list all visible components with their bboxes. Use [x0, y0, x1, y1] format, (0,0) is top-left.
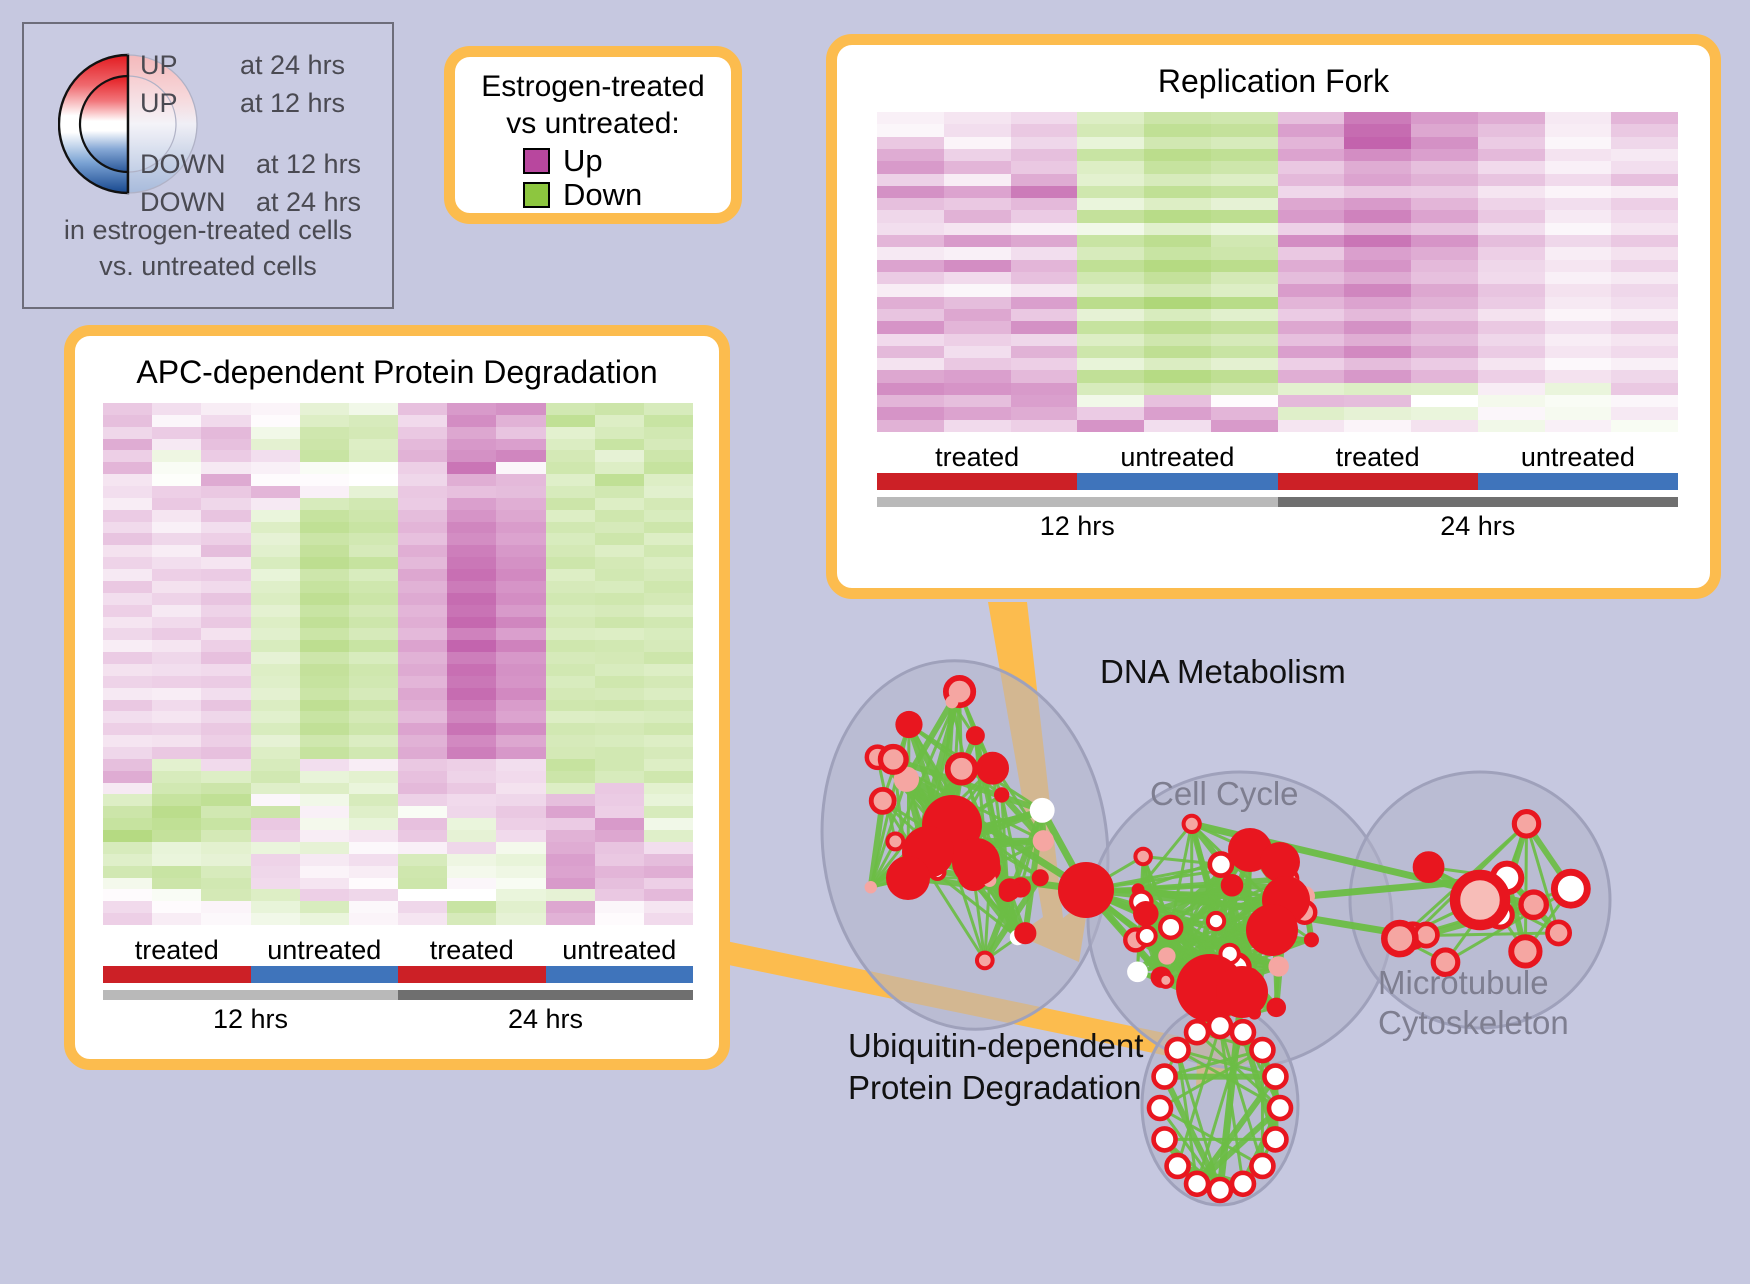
heatmap-cell: [644, 700, 693, 712]
heatmap-cell: [1011, 174, 1078, 186]
heatmap-cell: [644, 498, 693, 510]
heatmap-cell: [496, 415, 545, 427]
heatmap-cell: [1278, 297, 1345, 309]
heatmap-cell: [644, 617, 693, 629]
heatmap-cell: [595, 913, 644, 925]
heatmap-cell: [152, 700, 201, 712]
heatmap-cell: [546, 676, 595, 688]
network-node: [1149, 1097, 1171, 1119]
heatmap-cell: [877, 260, 944, 272]
heatmap-cell: [1278, 395, 1345, 407]
heatmap-cell: [546, 628, 595, 640]
heatmap-cell: [644, 711, 693, 723]
heatmap-cell: [103, 830, 152, 842]
heatmap-cell: [1545, 370, 1612, 382]
wheel-label-down-12: DOWN: [140, 149, 225, 180]
time-label: 24 hrs: [398, 1004, 693, 1035]
heatmap-cell: [944, 235, 1011, 247]
heatmap-cell: [201, 866, 250, 878]
heatmap-cell: [1545, 260, 1612, 272]
heatmap-cell: [496, 510, 545, 522]
heatmap-cell: [496, 866, 545, 878]
heatmap-cell: [1344, 174, 1411, 186]
heatmap-cell: [447, 545, 496, 557]
network-node: [1232, 1021, 1254, 1043]
heatmap-cell: [152, 474, 201, 486]
heatmap-cell: [877, 383, 944, 395]
heatmap-cell: [201, 569, 250, 581]
heatmap-cell: [1278, 174, 1345, 186]
heatmap-cell: [300, 711, 349, 723]
heatmap-cell: [546, 510, 595, 522]
heatmap-cell: [546, 794, 595, 806]
heatmap-cell: [300, 605, 349, 617]
heatmap-cell: [300, 462, 349, 474]
heatmap-cell: [398, 842, 447, 854]
heatmap-cell: [546, 450, 595, 462]
heatmap-cell: [644, 866, 693, 878]
heatmap-cell: [877, 137, 944, 149]
heatmap-cell: [152, 498, 201, 510]
heatmap-cell: [447, 794, 496, 806]
heatmap-cell: [447, 522, 496, 534]
heatmap-cell: [644, 652, 693, 664]
heatmap-cell: [300, 474, 349, 486]
heatmap-cell: [1077, 198, 1144, 210]
heatmap-cell: [1611, 309, 1678, 321]
heatmap-cell: [1278, 358, 1345, 370]
heatmap-cell: [496, 771, 545, 783]
heatmap-cell: [1411, 272, 1478, 284]
heatmap-cell: [1545, 321, 1612, 333]
heatmap-cell: [1211, 334, 1278, 346]
heatmap-cell: [1478, 112, 1545, 124]
heatmap-cell: [398, 771, 447, 783]
heatmap-cell: [300, 842, 349, 854]
heatmap-cell: [1478, 149, 1545, 161]
heatmap-cell: [877, 284, 944, 296]
heatmap-cell: [644, 593, 693, 605]
network-node: [1159, 974, 1172, 987]
heatmap-cell: [349, 723, 398, 735]
heatmap-cell: [300, 759, 349, 771]
heatmap-cell: [251, 806, 300, 818]
heatmap-cell: [251, 735, 300, 747]
heatmap-cell: [447, 676, 496, 688]
heatmap-cell: [349, 664, 398, 676]
heatmap-cell: [1344, 124, 1411, 136]
heatmap-cell: [201, 652, 250, 664]
heatmap-cell: [398, 628, 447, 640]
heatmap-cell: [103, 783, 152, 795]
heatmap-cell: [1211, 309, 1278, 321]
replication-fork-condition-labels: treateduntreatedtreateduntreated: [877, 442, 1678, 473]
heatmap-cell: [644, 842, 693, 854]
heatmap-cell: [1011, 223, 1078, 235]
heatmap-cell: [1011, 112, 1078, 124]
heatmap-cell: [1011, 284, 1078, 296]
heatmap-cell: [152, 403, 201, 415]
heatmap-cell: [595, 889, 644, 901]
heatmap-cell: [300, 545, 349, 557]
heatmap-cell: [201, 545, 250, 557]
heatmap-cell: [644, 403, 693, 415]
heatmap-cell: [595, 522, 644, 534]
heatmap-cell: [1211, 383, 1278, 395]
heatmap-cell: [349, 866, 398, 878]
heatmap-cell: [1278, 272, 1345, 284]
heatmap-cell: [152, 569, 201, 581]
heatmap-cell: [1545, 247, 1612, 259]
network-node: [1208, 913, 1224, 929]
heatmap-cell: [251, 439, 300, 451]
heatmap-cell: [1077, 420, 1144, 432]
heatmap-cell: [546, 617, 595, 629]
heatmap-cell: [1545, 407, 1612, 419]
down-label: Down: [563, 179, 642, 210]
network-node: [1209, 1015, 1231, 1037]
heatmap-cell: [1545, 297, 1612, 309]
heatmap-cell: [644, 854, 693, 866]
heatmap-cell: [349, 735, 398, 747]
heatmap-cell: [152, 723, 201, 735]
heatmap-cell: [300, 403, 349, 415]
heatmap-cell: [300, 652, 349, 664]
heatmap-cell: [201, 759, 250, 771]
heatmap-cell: [251, 854, 300, 866]
heatmap-cell: [201, 427, 250, 439]
heatmap-cell: [1077, 407, 1144, 419]
heatmap-cell: [496, 450, 545, 462]
time-label: 12 hrs: [877, 511, 1278, 542]
heatmap-cell: [152, 652, 201, 664]
heatmap-cell: [152, 866, 201, 878]
heatmap-cell: [251, 557, 300, 569]
heatmap-cell: [1077, 210, 1144, 222]
heatmap-cell: [877, 124, 944, 136]
network-node: [1186, 1021, 1208, 1043]
network-node: [1264, 1066, 1286, 1088]
heatmap-cell: [1278, 247, 1345, 259]
condition-color-segment: [546, 966, 694, 983]
heatmap-cell: [496, 830, 545, 842]
heatmap-cell: [300, 735, 349, 747]
heatmap-cell: [398, 652, 447, 664]
heatmap-cell: [1278, 149, 1345, 161]
heatmap-cell: [1478, 370, 1545, 382]
time-label: 24 hrs: [1278, 511, 1679, 542]
heatmap-cell: [1077, 112, 1144, 124]
apc-degradation-panel: APC-dependent Protein Degradation treate…: [64, 325, 730, 1070]
network-node: [1455, 875, 1505, 925]
apc-condition-bar: [103, 966, 693, 983]
network-label-microtubule-cytoskeleton: Microtubule Cytoskeleton: [1378, 963, 1569, 1043]
heatmap-cell: [496, 676, 545, 688]
heatmap-cell: [546, 533, 595, 545]
heatmap-cell: [300, 783, 349, 795]
heatmap-cell: [496, 806, 545, 818]
heatmap-cell: [546, 593, 595, 605]
heatmap-cell: [546, 830, 595, 842]
heatmap-cell: [595, 735, 644, 747]
heatmap-cell: [944, 198, 1011, 210]
heatmap-cell: [1545, 235, 1612, 247]
heatmap-cell: [349, 854, 398, 866]
heatmap-cell: [595, 806, 644, 818]
heatmap-cell: [1011, 297, 1078, 309]
condition-color-segment: [1478, 473, 1678, 490]
heatmap-cell: [1278, 223, 1345, 235]
heatmap-cell: [595, 688, 644, 700]
heatmap-cell: [447, 854, 496, 866]
heatmap-cell: [103, 711, 152, 723]
heatmap-cell: [546, 842, 595, 854]
heatmap-cell: [944, 223, 1011, 235]
heatmap-cell: [398, 403, 447, 415]
heatmap-cell: [1545, 186, 1612, 198]
heatmap-cell: [398, 581, 447, 593]
heatmap-cell: [349, 794, 398, 806]
network-node: [1232, 1173, 1254, 1195]
heatmap-cell: [349, 403, 398, 415]
heatmap-cell: [447, 747, 496, 759]
heatmap-cell: [152, 889, 201, 901]
network-label-cell-cycle: Cell Cycle: [1150, 775, 1299, 813]
heatmap-cell: [877, 370, 944, 382]
heatmap-cell: [398, 700, 447, 712]
heatmap-cell: [1144, 223, 1211, 235]
heatmap-cell: [152, 747, 201, 759]
heatmap-cell: [251, 759, 300, 771]
heatmap-cell: [944, 370, 1011, 382]
heatmap-cell: [1611, 210, 1678, 222]
network-edge: [1525, 824, 1526, 952]
heatmap-cell: [251, 866, 300, 878]
heatmap-cell: [152, 545, 201, 557]
heatmap-cell: [251, 569, 300, 581]
heatmap-cell: [201, 783, 250, 795]
heatmap-cell: [447, 640, 496, 652]
heatmap-cell: [201, 462, 250, 474]
heatmap-cell: [1478, 395, 1545, 407]
condition-label: untreated: [251, 935, 399, 966]
heatmap-cell: [944, 210, 1011, 222]
condition-label: untreated: [546, 935, 694, 966]
heatmap-cell: [1611, 370, 1678, 382]
heatmap-cell: [644, 771, 693, 783]
network-node: [1210, 853, 1232, 875]
heatmap-cell: [496, 628, 545, 640]
heatmap-cell: [251, 652, 300, 664]
network-node: [1160, 917, 1181, 938]
heatmap-cell: [1011, 149, 1078, 161]
heatmap-cell: [1144, 358, 1211, 370]
heatmap-cell: [103, 427, 152, 439]
heatmap-cell: [349, 688, 398, 700]
heatmap-cell: [595, 474, 644, 486]
heatmap-cell: [1077, 383, 1144, 395]
heatmap-cell: [447, 735, 496, 747]
replication-fork-heatmap: [877, 112, 1678, 432]
heatmap-cell: [1545, 395, 1612, 407]
heatmap-cell: [349, 652, 398, 664]
heatmap-cell: [300, 593, 349, 605]
time-color-segment: [103, 990, 398, 1000]
heatmap-cell: [496, 889, 545, 901]
heatmap-cell: [103, 723, 152, 735]
heatmap-cell: [201, 439, 250, 451]
heatmap-cell: [644, 901, 693, 913]
heatmap-cell: [1478, 407, 1545, 419]
heatmap-cell: [546, 557, 595, 569]
heatmap-cell: [447, 533, 496, 545]
heatmap-cell: [546, 581, 595, 593]
heatmap-cell: [1144, 112, 1211, 124]
heatmap-cell: [1211, 260, 1278, 272]
heatmap-cell: [447, 818, 496, 830]
heatmap-cell: [644, 676, 693, 688]
heatmap-cell: [1344, 309, 1411, 321]
heatmap-cell: [201, 628, 250, 640]
heatmap-cell: [1545, 174, 1612, 186]
heatmap-cell: [877, 210, 944, 222]
heatmap-cell: [1144, 321, 1211, 333]
heatmap-cell: [877, 334, 944, 346]
heatmap-cell: [103, 842, 152, 854]
heatmap-cell: [877, 309, 944, 321]
heatmap-cell: [398, 676, 447, 688]
heatmap-cell: [595, 510, 644, 522]
heatmap-cell: [201, 723, 250, 735]
heatmap-cell: [349, 450, 398, 462]
heatmap-cell: [1411, 161, 1478, 173]
heatmap-cell: [1478, 260, 1545, 272]
heatmap-cell: [1211, 420, 1278, 432]
network-node: [1032, 869, 1049, 886]
heatmap-cell: [251, 723, 300, 735]
heatmap-cell: [349, 771, 398, 783]
heatmap-cell: [152, 783, 201, 795]
heatmap-cell: [1011, 395, 1078, 407]
heatmap-cell: [1411, 149, 1478, 161]
heatmap-cell: [103, 866, 152, 878]
heatmap-cell: [447, 462, 496, 474]
heatmap-cell: [1278, 260, 1345, 272]
heatmap-cell: [644, 640, 693, 652]
heatmap-cell: [546, 474, 595, 486]
heatmap-cell: [152, 628, 201, 640]
heatmap-cell: [300, 557, 349, 569]
network-node: [1260, 842, 1300, 882]
heatmap-cell: [152, 510, 201, 522]
heatmap-cell: [1144, 210, 1211, 222]
heatmap-cell: [595, 854, 644, 866]
heatmap-cell: [201, 854, 250, 866]
replication-fork-time-bar: [877, 497, 1678, 507]
heatmap-cell: [1211, 149, 1278, 161]
heatmap-cell: [496, 617, 545, 629]
network-node: [1209, 1179, 1231, 1201]
heatmap-cell: [1478, 297, 1545, 309]
heatmap-cell: [546, 818, 595, 830]
heatmap-cell: [644, 878, 693, 890]
updown-key-panel: Estrogen-treated vs untreated: Up Down: [444, 46, 742, 224]
heatmap-cell: [201, 605, 250, 617]
heatmap-cell: [1144, 309, 1211, 321]
heatmap-cell: [251, 403, 300, 415]
heatmap-cell: [1211, 346, 1278, 358]
heatmap-cell: [546, 427, 595, 439]
heatmap-cell: [1545, 309, 1612, 321]
heatmap-cell: [1478, 235, 1545, 247]
heatmap-cell: [595, 569, 644, 581]
heatmap-cell: [349, 759, 398, 771]
heatmap-cell: [1478, 161, 1545, 173]
heatmap-cell: [644, 462, 693, 474]
heatmap-cell: [349, 545, 398, 557]
heatmap-cell: [152, 913, 201, 925]
heatmap-cell: [300, 688, 349, 700]
heatmap-cell: [944, 174, 1011, 186]
heatmap-cell: [1011, 309, 1078, 321]
heatmap-cell: [1545, 149, 1612, 161]
heatmap-cell: [644, 474, 693, 486]
heatmap-cell: [398, 427, 447, 439]
heatmap-cell: [251, 640, 300, 652]
heatmap-cell: [1611, 112, 1678, 124]
heatmap-cell: [103, 545, 152, 557]
heatmap-cell: [349, 628, 398, 640]
heatmap-cell: [1478, 223, 1545, 235]
heatmap-cell: [251, 533, 300, 545]
network-node: [1547, 922, 1569, 944]
heatmap-cell: [251, 688, 300, 700]
heatmap-cell: [546, 605, 595, 617]
heatmap-cell: [1545, 210, 1612, 222]
heatmap-cell: [201, 593, 250, 605]
heatmap-cell: [1545, 284, 1612, 296]
heatmap-cell: [944, 407, 1011, 419]
heatmap-cell: [447, 427, 496, 439]
heatmap-cell: [447, 617, 496, 629]
heatmap-cell: [546, 913, 595, 925]
heatmap-cell: [496, 486, 545, 498]
heatmap-cell: [1011, 346, 1078, 358]
heatmap-cell: [1344, 186, 1411, 198]
heatmap-cell: [349, 747, 398, 759]
heatmap-cell: [595, 403, 644, 415]
heatmap-cell: [398, 806, 447, 818]
heatmap-cell: [103, 569, 152, 581]
heatmap-cell: [1344, 358, 1411, 370]
heatmap-cell: [1077, 395, 1144, 407]
heatmap-cell: [644, 415, 693, 427]
heatmap-cell: [546, 439, 595, 451]
heatmap-cell: [103, 628, 152, 640]
heatmap-cell: [398, 605, 447, 617]
heatmap-cell: [1344, 370, 1411, 382]
network-node: [948, 755, 976, 783]
heatmap-cell: [251, 842, 300, 854]
heatmap-cell: [103, 557, 152, 569]
heatmap-cell: [398, 818, 447, 830]
heatmap-cell: [1077, 247, 1144, 259]
heatmap-cell: [398, 830, 447, 842]
key-row-up: Up: [523, 145, 731, 176]
heatmap-cell: [595, 617, 644, 629]
heatmap-cell: [251, 830, 300, 842]
heatmap-cell: [251, 747, 300, 759]
